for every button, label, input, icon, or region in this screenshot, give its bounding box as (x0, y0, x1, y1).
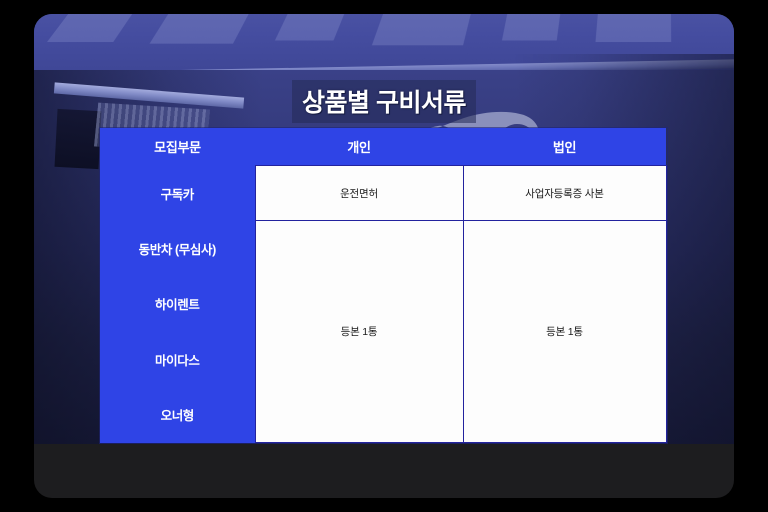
table-body: 구독카 운전면허 사업자등록증 사본 동반차 (무심사) 등본 1통 등본 1통… (100, 166, 666, 443)
page-title: 상품별 구비서류 (34, 80, 734, 123)
row-label-hi-rent: 하이렌트 (100, 276, 255, 332)
cell-corporate-merged-registry: 등본 1통 (463, 221, 666, 443)
column-header-personal: 개인 (255, 128, 463, 166)
column-header-corporate: 법인 (463, 128, 666, 166)
requirements-table: 모집부문 개인 법인 구독카 운전면허 사업자등록증 사본 동반차 (무심사) … (100, 128, 667, 443)
row-label-companion-car: 동반차 (무심사) (100, 221, 255, 277)
slide-card: NACARSLIFE.COM 상품별 구비서류 모집부문 개인 법인 구독카 (34, 14, 734, 498)
row-label-owner-type: 오너형 (100, 387, 255, 443)
table-row: 동반차 (무심사) 등본 1통 등본 1통 (100, 221, 666, 277)
cell-corporate-biz-reg: 사업자등록증 사본 (463, 166, 666, 221)
column-header-category: 모집부문 (100, 128, 255, 166)
row-label-midas: 마이다스 (100, 332, 255, 388)
slide-canvas: NACARSLIFE.COM 상품별 구비서류 모집부문 개인 법인 구독카 (0, 0, 768, 512)
cell-personal-license: 운전면허 (255, 166, 463, 221)
cell-personal-merged-registry: 등본 1통 (255, 221, 463, 443)
table-row: 구독카 운전면허 사업자등록증 사본 (100, 166, 666, 221)
table-header: 모집부문 개인 법인 (100, 128, 666, 166)
page-title-text: 상품별 구비서류 (292, 80, 476, 123)
row-label-subscription: 구독카 (100, 166, 255, 221)
table-header-row: 모집부문 개인 법인 (100, 128, 666, 166)
